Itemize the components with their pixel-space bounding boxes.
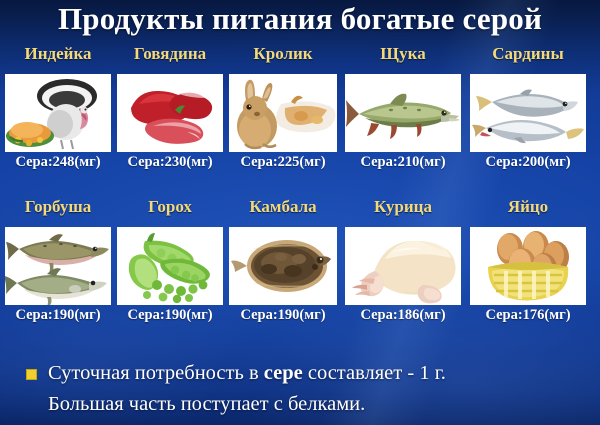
product-value-peas: Сера:190(мг) (112, 307, 228, 331)
product-image-sardines (470, 74, 586, 152)
product-value-sardines: Сера:200(мг) (470, 154, 586, 178)
footer-line1-before: Суточная потребность в (48, 362, 264, 384)
product-image-eggs (470, 227, 586, 305)
turkey-photo (5, 74, 111, 152)
product-label-salmon: Горбуша (0, 197, 116, 223)
product-value-pike: Сера:210(мг) (345, 154, 461, 178)
footer-line1-bold: сере (264, 362, 303, 384)
product-value-beef: Сера:230(мг) (112, 154, 228, 178)
product-image-chicken (345, 227, 461, 305)
product-label-beef: Говядина (112, 44, 228, 70)
product-image-turkey (5, 74, 111, 152)
product-image-rabbit (229, 74, 337, 152)
product-value-turkey: Сера:248(мг) (0, 154, 116, 178)
product-value-chicken: Сера:186(мг) (345, 307, 461, 331)
product-label-flounder: Камбала (225, 197, 341, 223)
product-label-chicken: Курица (345, 197, 461, 223)
chicken-photo (345, 227, 461, 305)
footer-line2: Большая часть поступает с белками. (48, 393, 365, 415)
product-value-rabbit: Сера:225(мг) (225, 154, 341, 178)
product-label-turkey: Индейка (0, 44, 116, 70)
product-label-pike: Щука (345, 44, 461, 70)
beef-photo (117, 74, 223, 152)
product-label-rabbit: Кролик (225, 44, 341, 70)
sardines-photo (470, 74, 586, 152)
product-image-pike (345, 74, 461, 152)
pike-photo (345, 74, 461, 152)
product-label-eggs: Яйцо (470, 197, 586, 223)
page-title: Продукты питания богатые серой (0, 1, 600, 37)
footer-text: Суточная потребность в сере составляет -… (48, 358, 578, 420)
product-image-peas (117, 227, 223, 305)
product-image-flounder (229, 227, 337, 305)
bullet-square-icon (26, 369, 37, 380)
rabbit-photo (229, 74, 337, 152)
product-value-salmon: Сера:190(мг) (0, 307, 116, 331)
flounder-photo (229, 227, 337, 305)
product-image-salmon (5, 227, 111, 305)
footer-note: Суточная потребность в сере составляет -… (0, 358, 600, 424)
product-label-sardines: Сардины (470, 44, 586, 70)
product-value-flounder: Сера:190(мг) (225, 307, 341, 331)
salmon-photo (5, 227, 111, 305)
product-image-beef (117, 74, 223, 152)
product-value-eggs: Сера:176(мг) (470, 307, 586, 331)
eggs-photo (470, 227, 586, 305)
footer-line1-after: составляет - 1 г. (303, 362, 446, 384)
peas-photo (117, 227, 223, 305)
product-label-peas: Горох (112, 197, 228, 223)
